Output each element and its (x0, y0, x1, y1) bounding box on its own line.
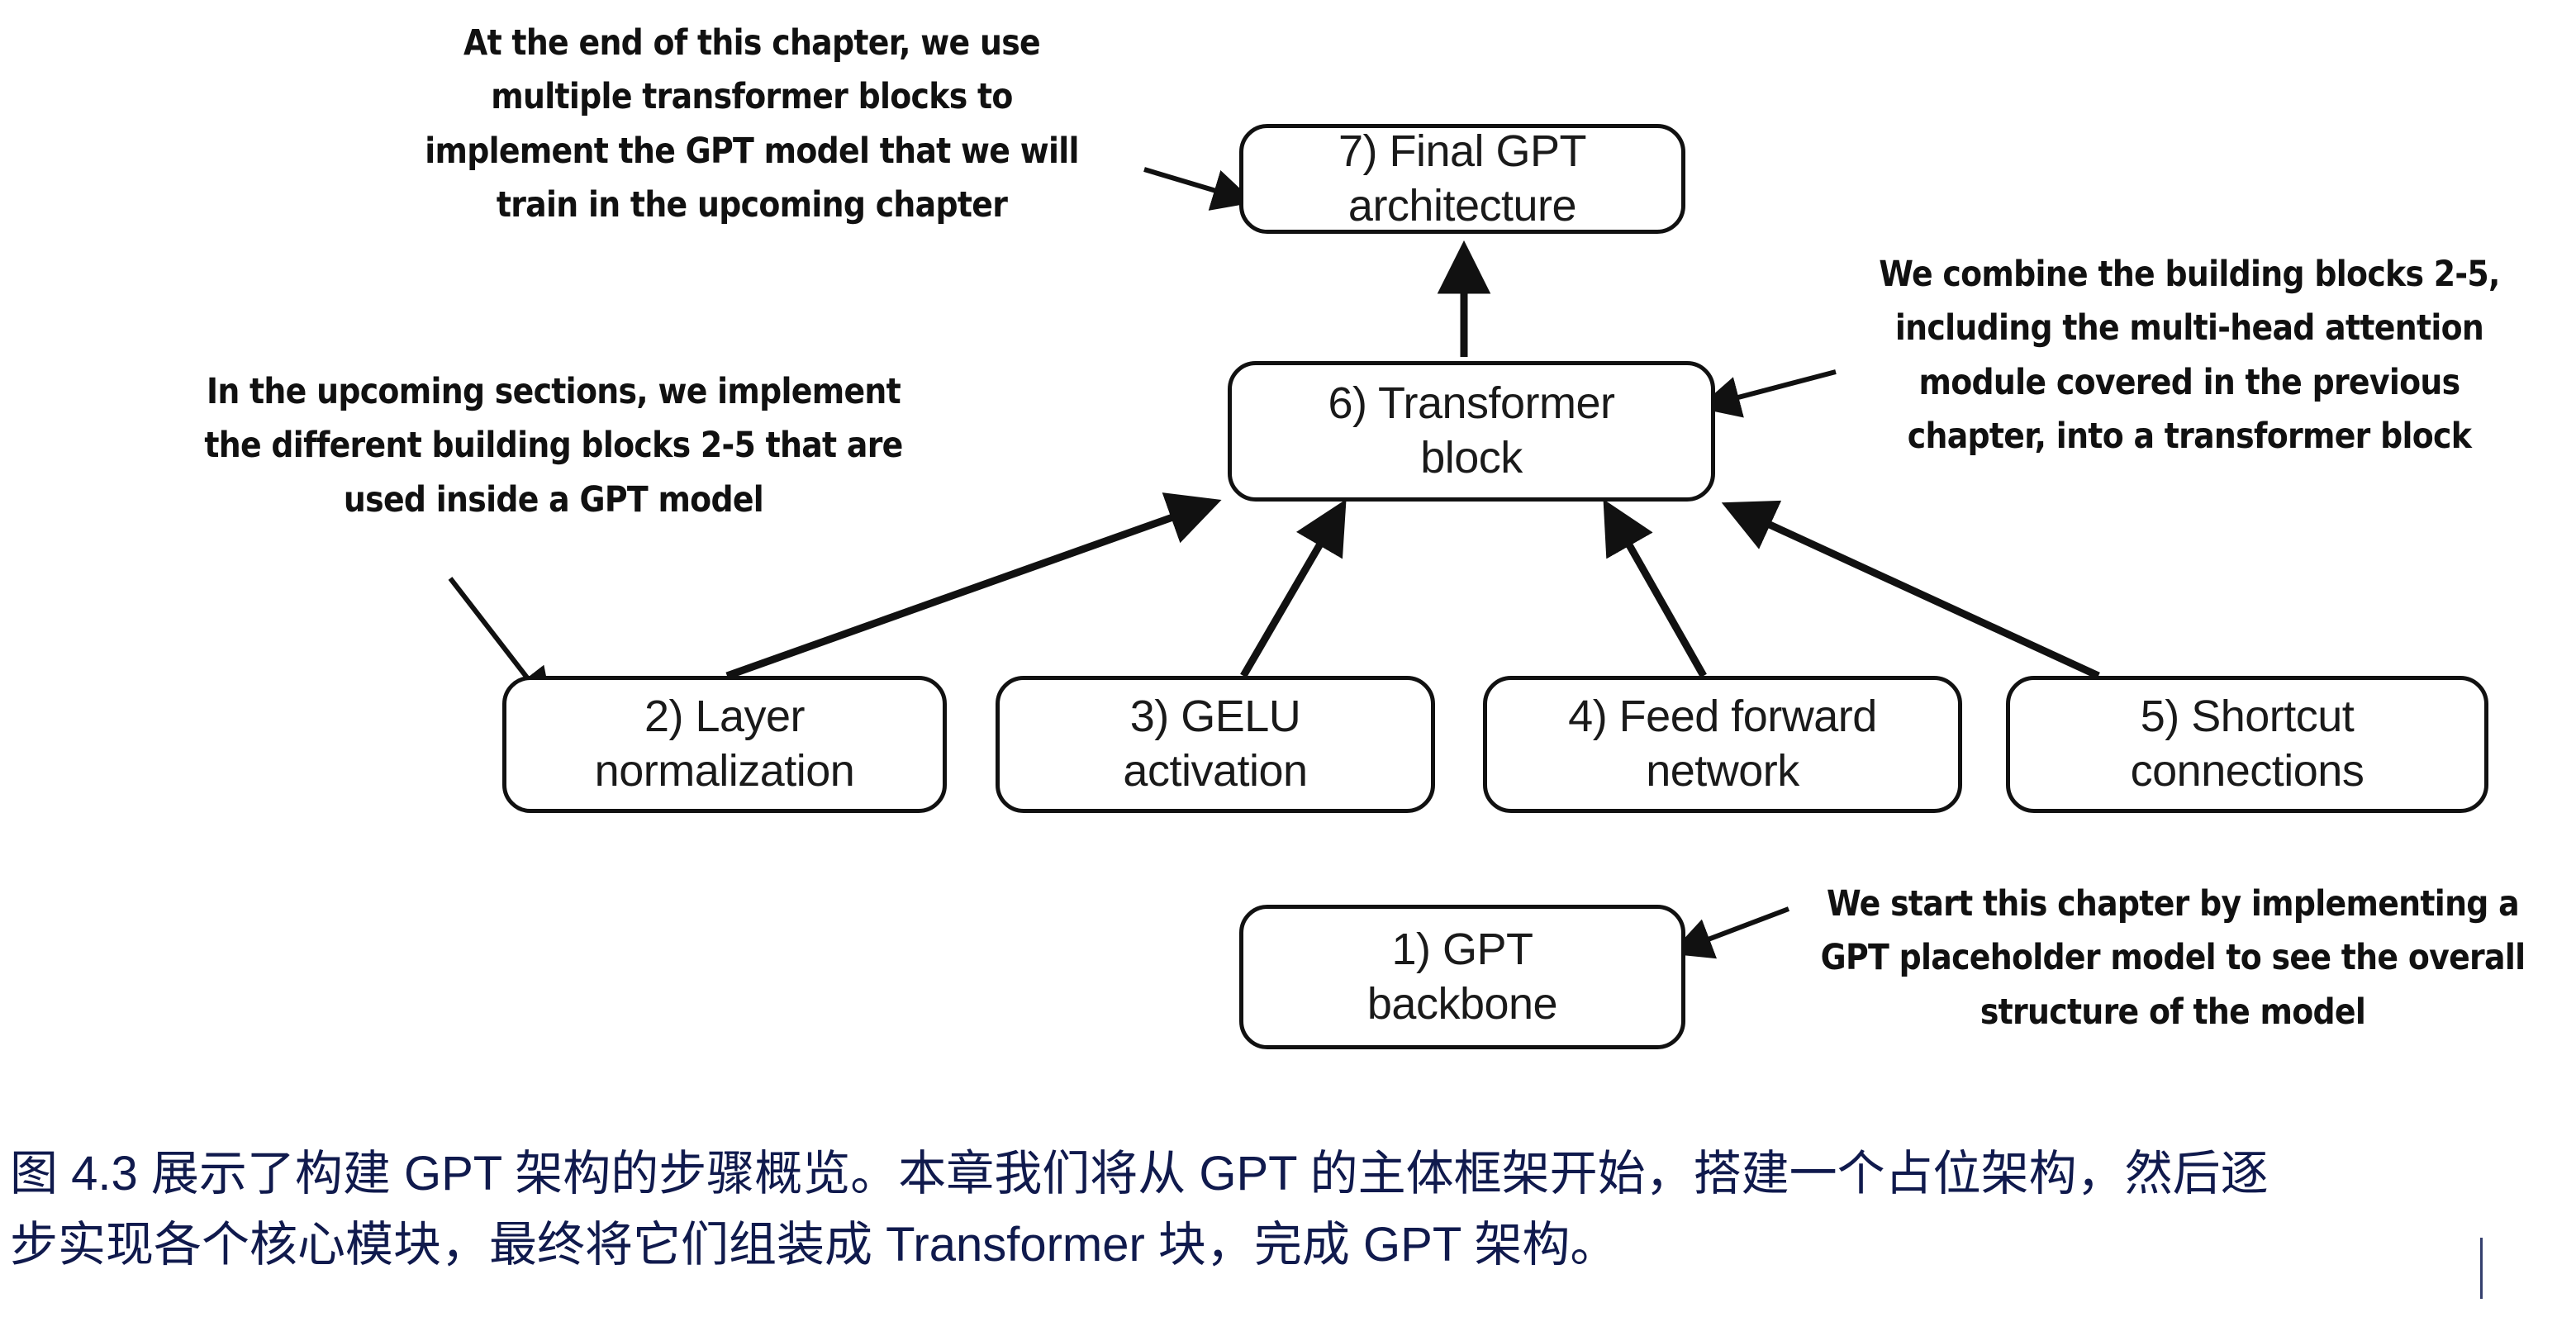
annotation-line-2: including the multi-head attention (1847, 302, 2531, 355)
figure-caption: 图 4.3 展示了构建 GPT 架构的步骤概览。本章我们将从 GPT 的主体框架… (10, 1139, 2566, 1281)
node-label-line1: 3) GELU (1130, 690, 1301, 744)
node-gelu-activation[interactable]: 3) GELU activation (996, 676, 1435, 813)
node-final-gpt-architecture[interactable]: 7) Final GPT architecture (1239, 124, 1685, 234)
annotation-line-1: We combine the building blocks 2-5, (1847, 248, 2531, 302)
node-label-line2: network (1646, 744, 1799, 799)
annotation-line-3: implement the GPT model that we will (403, 125, 1101, 178)
node-label-line2: backbone (1367, 977, 1557, 1032)
annotation-top-left: At the end of this chapter, we use multi… (403, 17, 1101, 232)
arrow-shortcut5-to-block6 (1728, 506, 2098, 676)
node-label-line2: connections (2131, 744, 2365, 799)
gpt-architecture-diagram: 7) Final GPT architecture 6) Transformer… (0, 0, 2576, 1099)
node-label-line1: 2) Layer (644, 690, 805, 744)
annotation-line-2: the different building blocks 2-5 that a… (175, 419, 931, 473)
node-layer-normalization[interactable]: 2) Layer normalization (502, 676, 947, 813)
annotation-line-3: used inside a GPT model (175, 473, 931, 527)
annotation-line-1: In the upcoming sections, we implement (175, 365, 931, 419)
node-label-line2: block (1420, 431, 1523, 486)
annotation-line-1: We start this chapter by implementing a (1817, 877, 2529, 931)
caption-line-1: 图 4.3 展示了构建 GPT 架构的步骤概览。本章我们将从 GPT 的主体框架… (10, 1139, 2566, 1210)
annotation-mid-left: In the upcoming sections, we implement t… (175, 365, 931, 527)
node-feed-forward-network[interactable]: 4) Feed forward network (1483, 676, 1962, 813)
annotation-bottom-right: We start this chapter by implementing a … (1817, 877, 2529, 1039)
node-transformer-block[interactable]: 6) Transformer block (1228, 361, 1715, 502)
annotation-line-3: structure of the model (1817, 986, 2529, 1039)
arrow-feedforward4-to-block6 (1607, 506, 1704, 676)
node-label-line2: architecture (1348, 179, 1576, 234)
caption-line-2: 步实现各个核心模块，最终将它们组装成 Transformer 块，完成 GPT … (10, 1210, 2566, 1281)
arrow-gelu3-to-block6 (1243, 506, 1343, 676)
annotation-line-1: At the end of this chapter, we use (403, 17, 1101, 70)
annotation-line-3: module covered in the previous (1847, 356, 2531, 410)
node-label-line1: 7) Final GPT (1338, 125, 1586, 179)
node-shortcut-connections[interactable]: 5) Shortcut connections (2006, 676, 2488, 813)
annotation-mid-right: We combine the building blocks 2-5, incl… (1847, 248, 2531, 464)
node-label-line2: activation (1123, 744, 1307, 799)
annotation-line-4: train in the upcoming chapter (403, 178, 1101, 232)
annotation-line-2: GPT placeholder model to see the overall (1817, 931, 2529, 985)
annotation-line-4: chapter, into a transformer block (1847, 410, 2531, 464)
node-label-line1: 6) Transformer (1328, 377, 1614, 431)
arrow-layernorm2-to-block6 (727, 502, 1214, 676)
node-label-line2: normalization (595, 744, 855, 799)
node-gpt-backbone[interactable]: 1) GPT backbone (1239, 905, 1685, 1049)
node-label-line1: 5) Shortcut (2141, 690, 2355, 744)
text-cursor (2480, 1238, 2483, 1299)
node-label-line1: 1) GPT (1391, 923, 1533, 977)
annotation-line-2: multiple transformer blocks to (403, 70, 1101, 124)
leader-bottomright-to-backbone1 (1675, 909, 1789, 952)
node-label-line1: 4) Feed forward (1568, 690, 1877, 744)
leader-midright-to-block6 (1704, 372, 1836, 407)
leader-topleft-to-final7 (1144, 169, 1249, 201)
